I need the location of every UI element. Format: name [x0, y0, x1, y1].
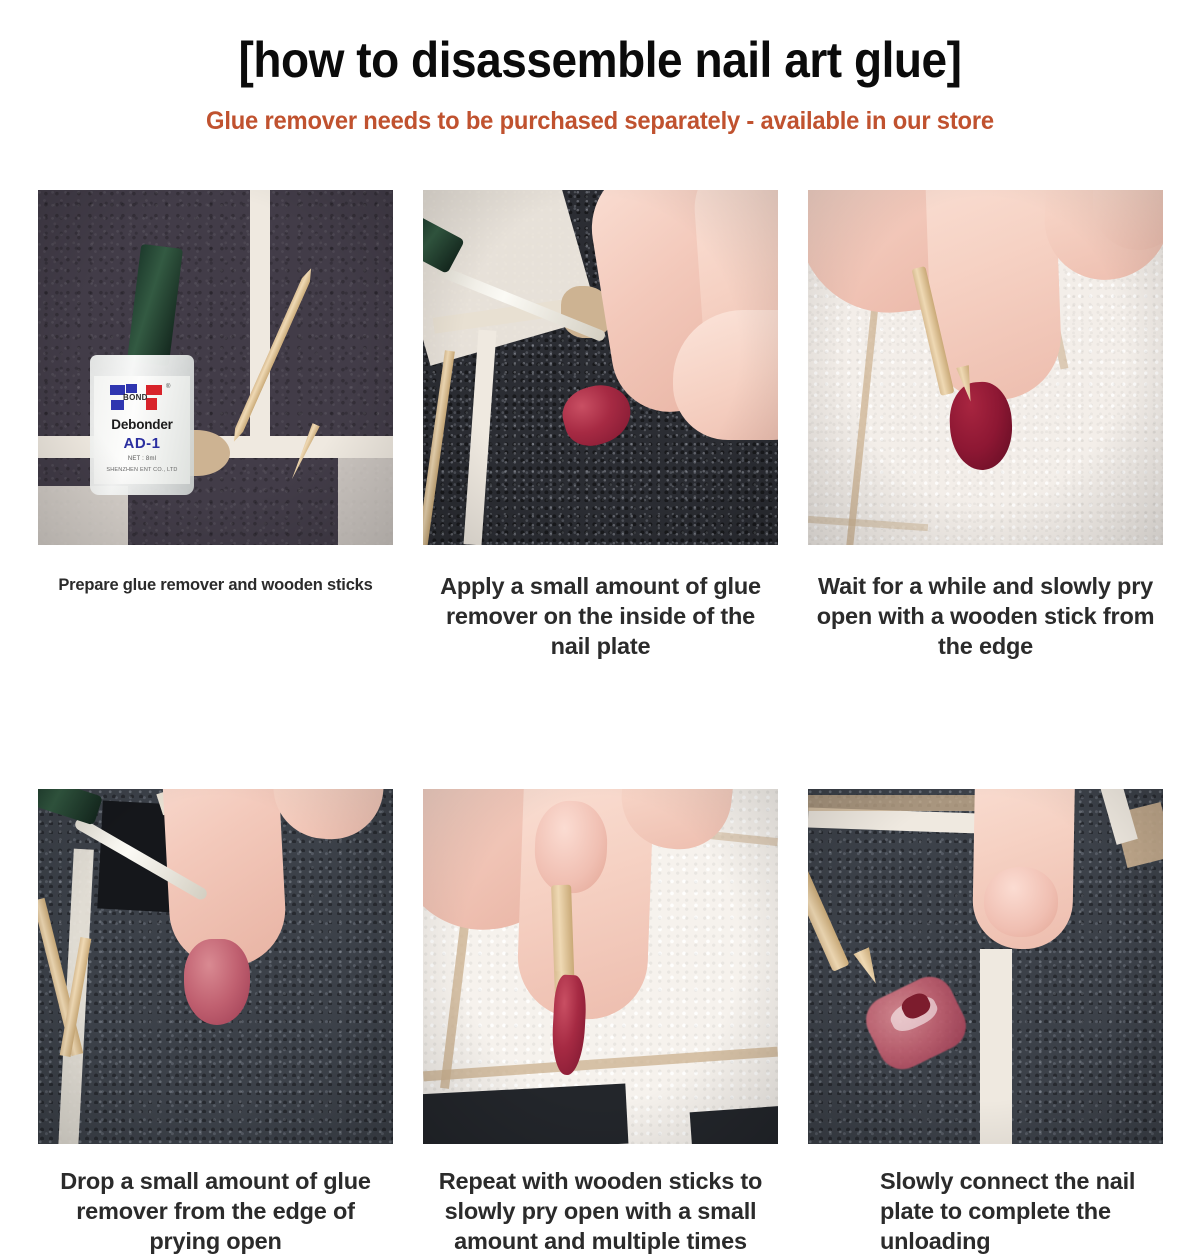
step-card-2: Apply a small amount of glue remover on …: [423, 190, 778, 661]
step-photo-2: [423, 190, 778, 545]
mat-black-patch-right: [690, 1106, 778, 1144]
bottle-company-text: SHENZHEN ENT CO., LTD: [94, 467, 190, 473]
page-subtitle: Glue remover needs to be purchased separ…: [30, 107, 1170, 136]
step-photo-3: [808, 190, 1163, 545]
step-caption-4: Drop a small amount of glue remover from…: [38, 1166, 393, 1256]
step-caption-2: Apply a small amount of glue remover on …: [423, 571, 778, 661]
steps-row-2: Drop a small amount of glue remover from…: [0, 789, 1200, 1256]
step-photo-6: [808, 789, 1163, 1144]
bottle-product-code: AD-1: [94, 436, 190, 451]
mat-strip-right: [338, 458, 393, 545]
page-header: [how to disassemble nail art glue] Glue …: [0, 0, 1200, 136]
registered-trademark-icon: ®: [166, 384, 170, 390]
bottle-net-volume: NET : 8ml: [94, 456, 190, 463]
logo-square-red: [146, 385, 162, 395]
step-caption-6: Slowly connect the nail plate to complet…: [808, 1166, 1163, 1256]
step-photo-1: BOND ® Debonder AD-1 NET : 8ml SHENZHEN …: [38, 190, 393, 545]
nail-pink-red: [184, 939, 250, 1025]
bottle-label: BOND ® Debonder AD-1 NET : 8ml SHENZHEN …: [94, 376, 190, 484]
step-photo-4: [38, 789, 393, 1144]
brand-logo-mark: BOND ®: [110, 384, 172, 412]
step-card-6: Slowly connect the nail plate to complet…: [808, 789, 1163, 1256]
mat-strip-vertical-right: [980, 949, 1012, 1144]
steps-grid: BOND ® Debonder AD-1 NET : 8ml SHENZHEN …: [0, 190, 1200, 1256]
step-caption-1: Prepare glue remover and wooden sticks: [38, 575, 393, 596]
bottle-brand-text: BOND: [123, 394, 148, 402]
mat-black-patch-left: [423, 1084, 628, 1144]
step-caption-5: Repeat with wooden sticks to slowly pry …: [423, 1166, 778, 1256]
step-card-3: Wait for a while and slowly pry open wit…: [808, 190, 1163, 661]
bottle-product-name: Debonder: [94, 418, 190, 432]
logo-square-blue-2: [126, 384, 137, 393]
step-card-4: Drop a small amount of glue remover from…: [38, 789, 393, 1256]
page-title: [how to disassemble nail art glue]: [48, 34, 1152, 87]
steps-row-1: BOND ® Debonder AD-1 NET : 8ml SHENZHEN …: [0, 190, 1200, 661]
step-caption-3: Wait for a while and slowly pry open wit…: [808, 571, 1163, 661]
step-card-5: Repeat with wooden sticks to slowly pry …: [423, 789, 778, 1256]
mat-tan-strip-top: [808, 795, 998, 811]
nail-natural-tip: [984, 867, 1058, 937]
step-photo-5: [423, 789, 778, 1144]
step-card-1: BOND ® Debonder AD-1 NET : 8ml SHENZHEN …: [38, 190, 393, 661]
